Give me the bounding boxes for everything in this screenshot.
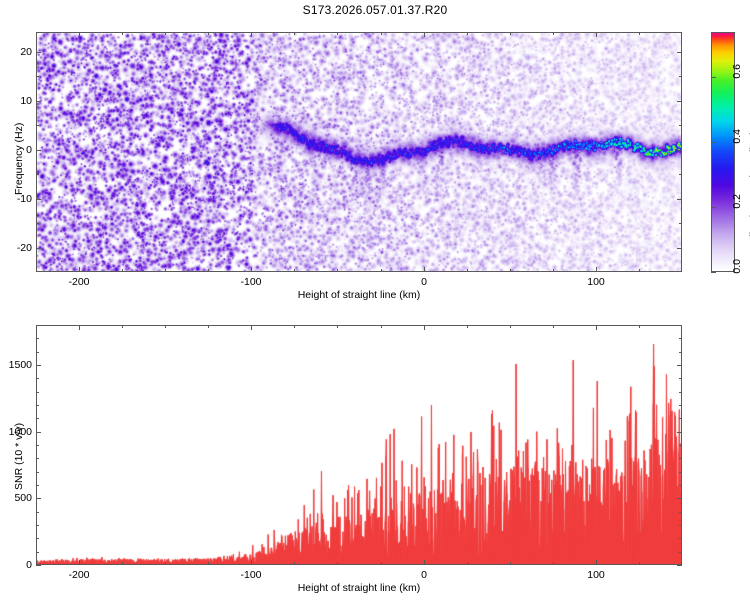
snr-panel <box>36 325 682 565</box>
snr-xtick-label: -100 <box>221 569 281 581</box>
axis-tick <box>596 267 597 272</box>
axis-tick <box>510 325 511 328</box>
spectrogram-ytick-label: -20 <box>0 242 32 254</box>
colorbar-tick-label: 0.4 <box>731 129 743 155</box>
axis-tick <box>79 325 80 330</box>
axis-tick <box>36 174 39 175</box>
axis-tick <box>36 472 39 473</box>
axis-tick <box>467 32 468 35</box>
axis-tick <box>553 325 554 328</box>
axis-tick <box>679 472 682 473</box>
axis-tick <box>679 392 682 393</box>
axis-tick <box>639 325 640 328</box>
axis-tick <box>208 325 209 328</box>
axis-tick <box>36 445 39 446</box>
axis-tick <box>36 432 41 433</box>
axis-tick <box>122 562 123 565</box>
axis-tick <box>79 267 80 272</box>
snr-xtick-label: 0 <box>394 569 454 581</box>
page-title: S173.2026.057.01.37.R20 <box>0 3 750 17</box>
axis-tick <box>424 32 425 37</box>
spectrogram-xaxis-title: Height of straight line (km) <box>189 289 529 301</box>
axis-tick <box>424 560 425 565</box>
axis-tick <box>467 325 468 328</box>
snr-ytick-label: 500 <box>0 492 32 504</box>
axis-tick <box>711 142 716 143</box>
axis-tick <box>165 325 166 328</box>
axis-tick <box>467 269 468 272</box>
axis-tick <box>79 32 80 37</box>
axis-tick <box>677 150 682 151</box>
axis-tick <box>122 325 123 328</box>
axis-tick <box>208 269 209 272</box>
snr-ytick-label: 0 <box>0 559 32 571</box>
axis-tick <box>36 458 39 459</box>
axis-tick <box>36 52 41 53</box>
axis-tick <box>510 562 511 565</box>
axis-tick <box>711 207 716 208</box>
spectrogram-ytick-label: 10 <box>0 95 32 107</box>
axis-tick <box>596 32 597 37</box>
axis-tick <box>36 125 39 126</box>
spectrogram-xtick-label: 100 <box>566 276 626 288</box>
colorbar-tick-label: 0.2 <box>731 194 743 220</box>
axis-tick <box>679 378 682 379</box>
snr-canvas <box>37 326 681 564</box>
snr-ytick-label: 1500 <box>0 359 32 371</box>
axis-tick <box>208 32 209 35</box>
axis-tick <box>677 365 682 366</box>
axis-tick <box>36 352 39 353</box>
axis-tick <box>337 562 338 565</box>
axis-tick <box>553 562 554 565</box>
axis-tick <box>251 325 252 330</box>
snr-ytick-label: 1000 <box>0 426 32 438</box>
axis-tick <box>424 325 425 330</box>
axis-tick <box>639 32 640 35</box>
axis-tick <box>36 76 39 77</box>
axis-tick <box>677 199 682 200</box>
axis-tick <box>679 485 682 486</box>
axis-tick <box>122 32 123 35</box>
axis-tick <box>36 485 39 486</box>
axis-tick <box>711 272 716 273</box>
axis-tick <box>251 560 252 565</box>
axis-tick <box>381 562 382 565</box>
axis-tick <box>79 560 80 565</box>
axis-tick <box>677 101 682 102</box>
snr-xtick-label: 100 <box>566 569 626 581</box>
axis-tick <box>677 432 682 433</box>
axis-tick <box>679 352 682 353</box>
axis-tick <box>36 512 39 513</box>
axis-tick <box>36 365 41 366</box>
axis-tick <box>122 269 123 272</box>
axis-tick <box>36 378 39 379</box>
spectrogram-xtick-label: -100 <box>221 276 281 288</box>
axis-tick <box>679 445 682 446</box>
axis-tick <box>337 269 338 272</box>
axis-tick <box>467 562 468 565</box>
axis-tick <box>679 405 682 406</box>
axis-tick <box>294 325 295 328</box>
axis-tick <box>36 392 39 393</box>
axis-tick <box>337 325 338 328</box>
spectrogram-xtick-label: -200 <box>49 276 109 288</box>
axis-tick <box>596 325 597 330</box>
colorbar-tick-label: 0.6 <box>731 64 743 90</box>
axis-tick <box>639 562 640 565</box>
axis-tick <box>679 525 682 526</box>
axis-tick <box>553 269 554 272</box>
axis-tick <box>294 32 295 35</box>
axis-tick <box>294 562 295 565</box>
axis-tick <box>596 560 597 565</box>
axis-tick <box>337 32 338 35</box>
axis-tick <box>510 32 511 35</box>
axis-tick <box>679 125 682 126</box>
spectrogram-ytick-label: 20 <box>0 46 32 58</box>
axis-tick <box>639 269 640 272</box>
axis-tick <box>36 101 41 102</box>
axis-tick <box>36 338 39 339</box>
axis-tick <box>36 223 39 224</box>
axis-tick <box>36 405 39 406</box>
spectrogram-yaxis-title: Frequency (Hz) <box>13 123 25 195</box>
axis-tick <box>381 32 382 35</box>
axis-tick <box>381 325 382 328</box>
spectrogram-panel <box>36 32 682 272</box>
axis-tick <box>679 512 682 513</box>
axis-tick <box>553 32 554 35</box>
axis-tick <box>36 565 41 566</box>
axis-tick <box>711 77 716 78</box>
spectrogram-canvas <box>37 33 681 271</box>
axis-tick <box>165 32 166 35</box>
spectrogram-xtick-label: 0 <box>394 276 454 288</box>
axis-tick <box>677 52 682 53</box>
snr-xtick-label: -200 <box>49 569 109 581</box>
axis-tick <box>294 269 295 272</box>
axis-tick <box>424 267 425 272</box>
axis-tick <box>381 269 382 272</box>
axis-tick <box>510 269 511 272</box>
axis-tick <box>36 538 39 539</box>
axis-tick <box>679 338 682 339</box>
axis-tick <box>208 562 209 565</box>
axis-tick <box>36 248 41 249</box>
axis-tick <box>251 32 252 37</box>
axis-tick <box>36 199 41 200</box>
axis-tick <box>679 76 682 77</box>
snr-xaxis-title: Height of straight line (km) <box>189 582 529 594</box>
axis-tick <box>679 223 682 224</box>
colorbar-tick-label: 0.0 <box>731 259 743 285</box>
axis-tick <box>251 267 252 272</box>
axis-tick <box>677 498 682 499</box>
axis-tick <box>36 552 39 553</box>
axis-tick <box>36 418 39 419</box>
spectrogram-ytick-label: 0 <box>0 144 32 156</box>
axis-tick <box>165 269 166 272</box>
axis-tick <box>679 174 682 175</box>
axis-tick <box>36 498 41 499</box>
axis-tick <box>679 538 682 539</box>
axis-tick <box>679 458 682 459</box>
axis-tick <box>165 562 166 565</box>
axis-tick <box>36 150 41 151</box>
spectrogram-ytick-label: -10 <box>0 193 32 205</box>
axis-tick <box>677 565 682 566</box>
axis-tick <box>679 552 682 553</box>
axis-tick <box>679 418 682 419</box>
axis-tick <box>677 248 682 249</box>
axis-tick <box>36 525 39 526</box>
